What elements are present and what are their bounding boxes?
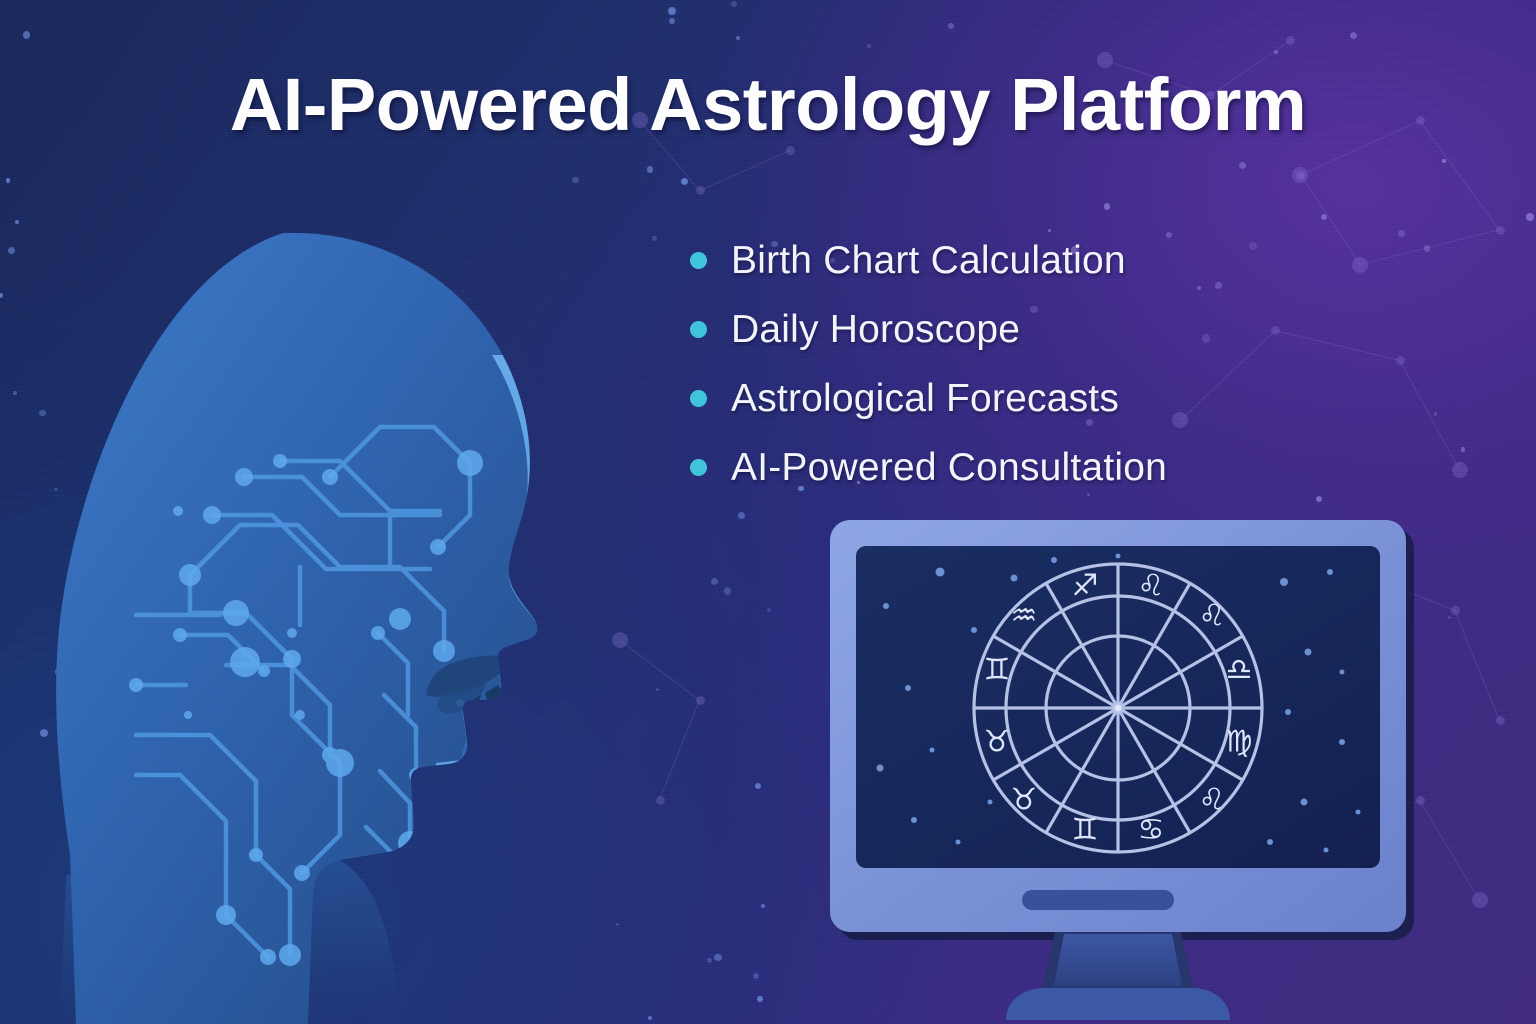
zodiac-wheel-center [1115, 705, 1122, 712]
zodiac-glyph-sagittarius: ♐ [1072, 569, 1099, 604]
zodiac-glyph-libra: ♎ [1226, 653, 1253, 688]
bullet-dot-icon [690, 321, 707, 338]
page-title: AI-Powered Astrology Platform [0, 62, 1536, 147]
zodiac-glyph-virgo: ♍ [1226, 725, 1253, 760]
list-item: Daily Horoscope [690, 295, 1167, 364]
zodiac-glyph-taurus: ♉ [984, 725, 1011, 760]
feature-label: AI-Powered Consultation [731, 446, 1167, 490]
list-item: Astrological Forecasts [690, 364, 1167, 433]
list-item: AI-Powered Consultation [690, 433, 1167, 502]
feature-label: Daily Horoscope [731, 308, 1020, 352]
zodiac-glyph-gemini: ♊ [1072, 813, 1099, 848]
zodiac-glyph-leo: ♌ [1138, 569, 1165, 604]
feature-label: Astrological Forecasts [731, 377, 1119, 421]
zodiac-glyph-taurus: ♉ [1011, 783, 1038, 818]
ai-head-circuit-icon [40, 215, 600, 1024]
list-item: Birth Chart Calculation [690, 226, 1167, 295]
bullet-dot-icon [690, 390, 707, 407]
bullet-dot-icon [690, 252, 707, 269]
zodiac-glyph-aquarius: ♒ [1011, 599, 1038, 634]
bullet-dot-icon [690, 459, 707, 476]
desktop-monitor-icon: ♌ ♌ ♎ ♍ ♌ ♋ ♊ ♉ ♉ ♊ ♒ ♐ [818, 512, 1418, 1024]
monitor-chin-indent [1022, 890, 1174, 910]
zodiac-glyph-leo: ♌ [1199, 783, 1226, 818]
feature-label: Birth Chart Calculation [731, 239, 1126, 283]
zodiac-glyph-gemini: ♊ [984, 653, 1011, 688]
zodiac-glyph-leo: ♌ [1199, 599, 1226, 634]
zodiac-glyph-cancer: ♋ [1138, 813, 1165, 848]
feature-list: Birth Chart Calculation Daily Horoscope … [690, 226, 1167, 502]
zodiac-wheel-icon: ♌ ♌ ♎ ♍ ♌ ♋ ♊ ♉ ♉ ♊ ♒ ♐ [974, 564, 1262, 852]
monitor-stand-base [1006, 988, 1230, 1020]
